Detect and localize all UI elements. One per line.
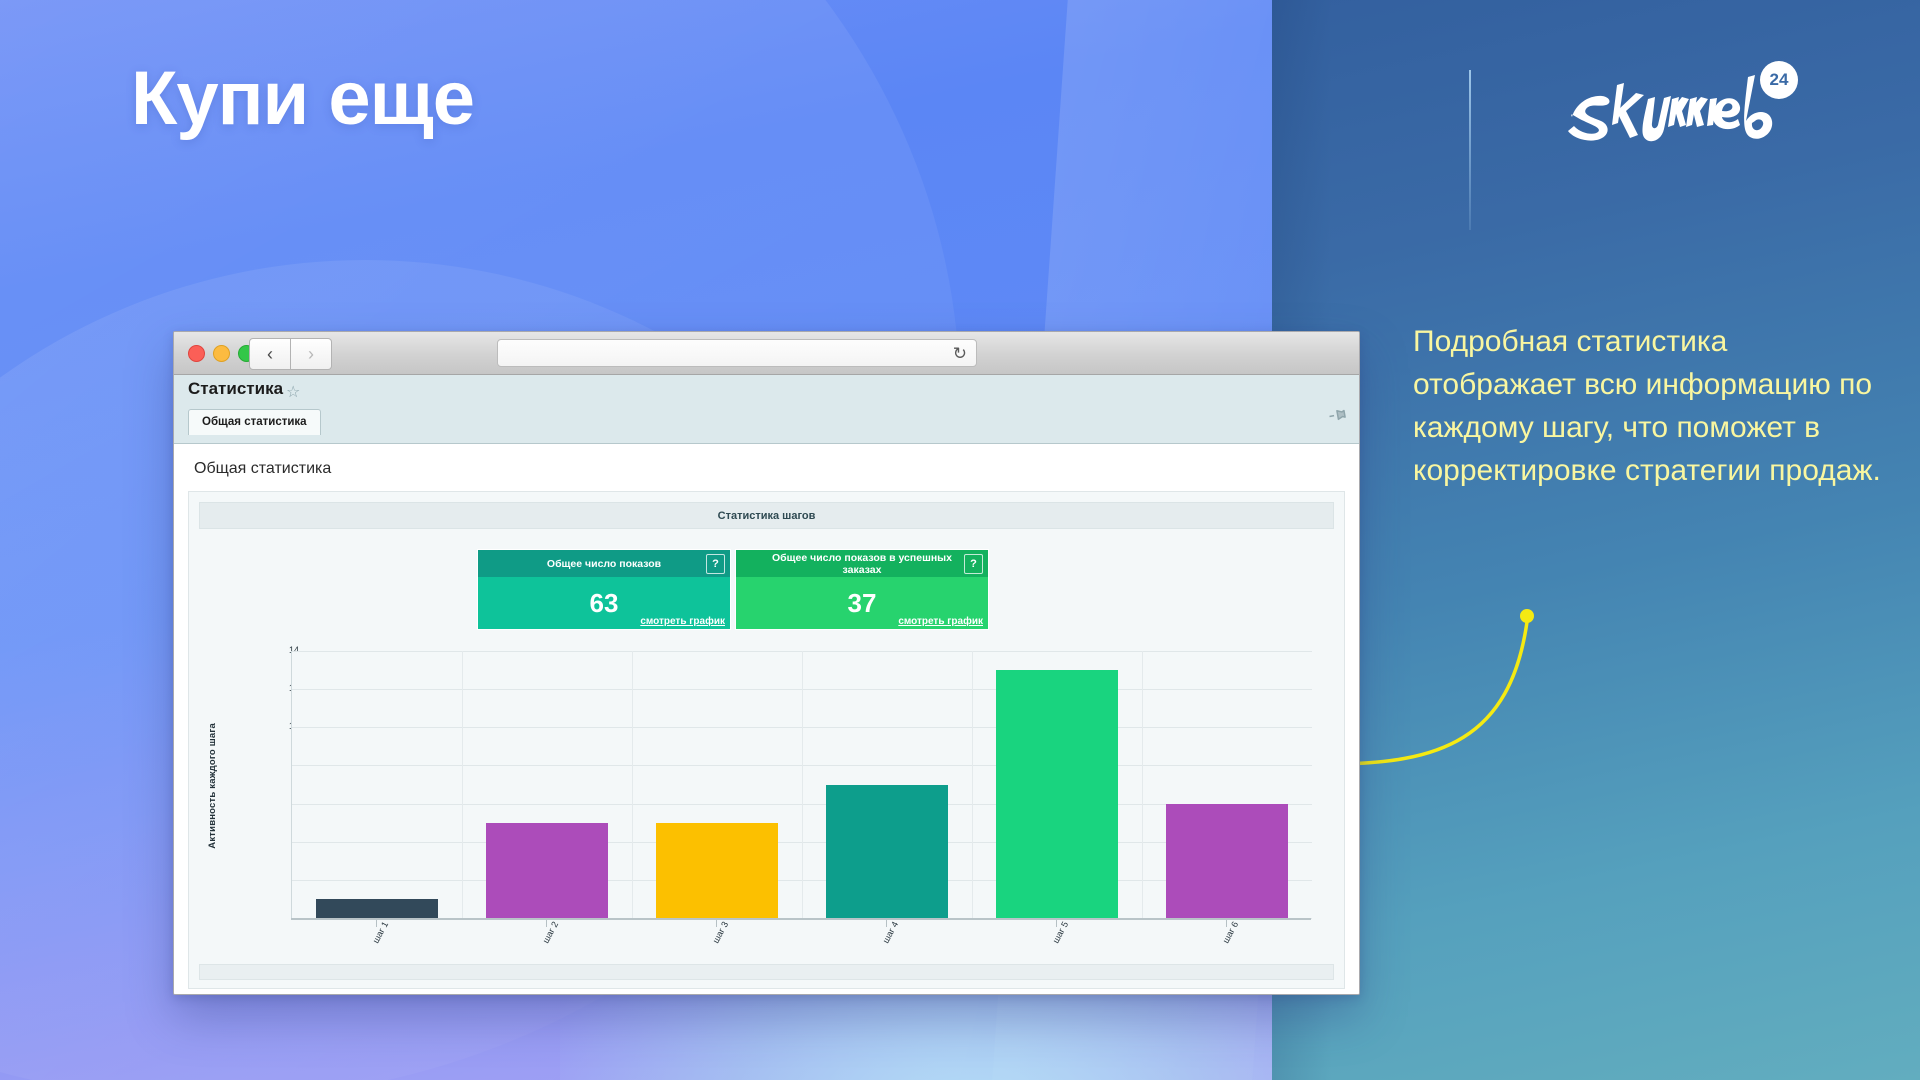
chart-bar-cell — [632, 651, 802, 918]
minimize-window-button[interactable] — [213, 345, 230, 362]
chart-plot-area — [291, 651, 1312, 918]
address-bar[interactable]: ↻ — [497, 339, 977, 367]
panel-footer-bar — [199, 964, 1334, 980]
view-chart-link[interactable]: смотреть график — [640, 616, 725, 627]
help-icon[interactable]: ? — [706, 554, 725, 574]
chart-bar[interactable] — [826, 785, 948, 919]
browser-titlebar: ‹ › ↻ + — [174, 332, 1359, 375]
chart-bar-cell — [1142, 651, 1312, 918]
chart-bar[interactable] — [316, 899, 438, 918]
panel-header: Статистика шагов — [199, 502, 1334, 529]
tab-general-statistics[interactable]: Общая статистика — [188, 409, 321, 435]
chart-x-tick-label: шаг 1 — [371, 920, 391, 945]
chart-y-tick: 2 — [239, 874, 299, 884]
chart-x-tick-label: шаг 3 — [711, 920, 731, 945]
chart-bars — [292, 651, 1312, 918]
caption-text: Подробная статистика отображает всю инфо… — [1413, 320, 1883, 492]
logo-badge-24: 24 — [1760, 61, 1798, 99]
browser-window: ‹ › ↻ + Статистика ☆ Общая статистика — [173, 331, 1360, 995]
chart-x-tick-label: шаг 6 — [1221, 920, 1241, 945]
stat-card-title-text: Общее число показов в успешных заказах — [762, 552, 962, 576]
chart-y-tick: 4 — [239, 836, 299, 846]
statistics-panel: Статистика шагов Общее число показов ? 6… — [188, 491, 1345, 989]
steps-bar-chart: Активность каждого шага 02468101214 шаг … — [205, 645, 1325, 975]
app-page-title: Статистика — [188, 379, 283, 399]
chart-bar-cell — [972, 651, 1142, 918]
section-title: Общая статистика — [174, 444, 1359, 491]
chart-bar[interactable] — [656, 823, 778, 918]
window-controls — [188, 345, 255, 362]
chart-bar-cell — [292, 651, 462, 918]
chart-x-tick-label: шаг 2 — [541, 920, 561, 945]
stat-card-title: Общее число показов ? — [478, 550, 730, 577]
pin-icon[interactable] — [1326, 404, 1349, 428]
stat-card-title: Общее число показов в успешных заказах ? — [736, 550, 988, 577]
pin-glyph-icon — [1328, 404, 1349, 425]
navigation-buttons: ‹ › — [249, 338, 332, 370]
close-window-button[interactable] — [188, 345, 205, 362]
back-button[interactable]: ‹ — [249, 338, 291, 370]
reload-icon[interactable]: ↻ — [953, 345, 967, 362]
chart-y-tick: 14 — [239, 645, 299, 655]
view-chart-link[interactable]: смотреть график — [898, 616, 983, 627]
chart-bar[interactable] — [486, 823, 608, 918]
tab-strip: Общая статистика — [188, 409, 321, 435]
chart-y-tick: 0 — [239, 912, 299, 922]
chart-y-axis-label: Активность каждого шага — [207, 723, 218, 849]
stat-card-total-views[interactable]: Общее число показов ? 63 смотреть график — [477, 549, 731, 630]
chart-bar-cell — [802, 651, 972, 918]
stat-card-value: 63 — [590, 588, 619, 619]
chart-y-tick: 12 — [239, 683, 299, 693]
stat-card-title-text: Общее число показов — [547, 558, 661, 570]
page-content: Общая статистика Статистика шагов Общее … — [174, 444, 1359, 995]
stat-card-body: 63 смотреть график — [478, 577, 730, 629]
stat-card-body: 37 смотреть график — [736, 577, 988, 629]
stat-card-value: 37 — [848, 588, 877, 619]
chart-x-tick-label: шаг 5 — [1051, 920, 1071, 945]
chart-x-tick-label: шаг 4 — [881, 920, 901, 945]
chart-bar[interactable] — [1166, 804, 1288, 918]
help-icon[interactable]: ? — [964, 554, 983, 574]
chart-bar-cell — [462, 651, 632, 918]
brand-logo: 24 — [1470, 55, 1760, 165]
page-header-bar: Статистика ☆ Общая статистика — [174, 375, 1359, 444]
chart-y-tick: 6 — [239, 798, 299, 808]
stat-cards: Общее число показов ? 63 смотреть график… — [477, 549, 989, 630]
chart-bar[interactable] — [996, 670, 1118, 918]
slide-root: Купи еще 24 Подробная статистика отображ… — [0, 0, 1920, 1080]
stat-card-successful-order-views[interactable]: Общее число показов в успешных заказах ?… — [735, 549, 989, 630]
forward-button[interactable]: › — [291, 338, 332, 370]
favorite-star-icon[interactable]: ☆ — [286, 382, 300, 402]
chart-y-tick: 10 — [239, 721, 299, 731]
chart-y-tick: 8 — [239, 759, 299, 769]
page-title: Купи еще — [131, 55, 474, 142]
